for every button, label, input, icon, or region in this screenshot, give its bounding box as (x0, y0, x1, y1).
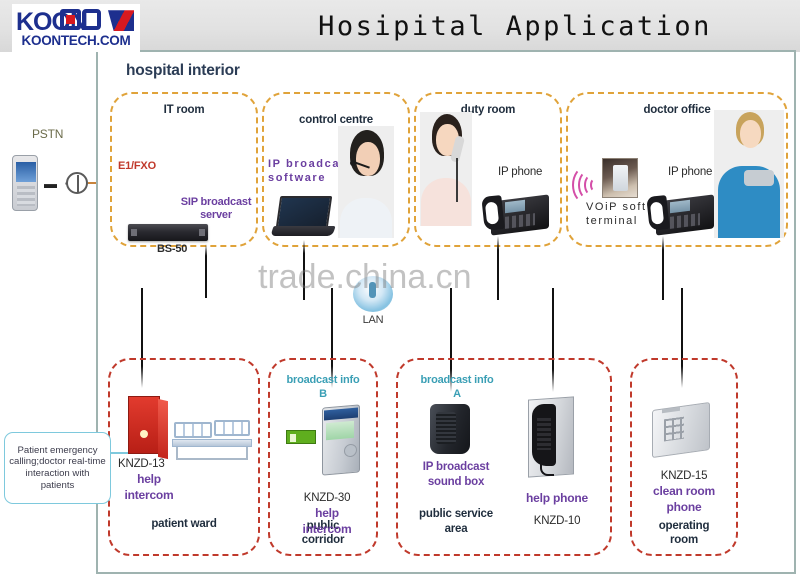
diagram-canvas: KOON KOONTECH.COM Hosipital Application … (0, 0, 800, 579)
zone-label-patient-ward: patient ward (110, 518, 258, 530)
broadcast-info-b-label: broadcast info B (272, 374, 374, 402)
pstn-node-icon (66, 172, 88, 194)
knzd-13-device-label: help intercom (110, 472, 188, 503)
lan-cloud-icon (353, 276, 393, 312)
zone-label-it-room: IT room (112, 104, 256, 116)
intercom-button (140, 430, 148, 438)
nurse-photo (420, 112, 472, 226)
operator-photo (338, 126, 394, 238)
operator-torso (340, 198, 392, 238)
link-doctor-down (662, 236, 664, 300)
nurse-torso (421, 178, 471, 226)
bed-mattress (172, 439, 252, 447)
ip-desk-phone-icon-doctor (648, 190, 714, 236)
desk-phone-handset (481, 195, 504, 231)
zone-label-control-centre: control centre (264, 114, 408, 126)
intercom-side (158, 399, 168, 459)
ip-broadcast-sound-box-icon (428, 404, 474, 456)
laptop-base (270, 226, 335, 236)
mobile-phone-icon (12, 155, 38, 211)
speaker-grill (436, 412, 456, 444)
doctor-ip-phone-label: IP phone (668, 166, 712, 179)
laptop-lid (276, 196, 332, 228)
doctor-photo (714, 110, 784, 238)
logo-dot-icon (66, 15, 75, 24)
wireless-waves-icon (572, 168, 602, 202)
logo-mark: KOON (16, 8, 136, 34)
koontech-logo: KOON KOONTECH.COM (12, 4, 140, 52)
knzd-30-kiosk-icon (320, 404, 364, 476)
kiosk-screen (326, 421, 354, 440)
voip-soft-terminal-photo (602, 158, 638, 198)
link-control-down (303, 240, 305, 300)
hospital-bed-icon (170, 418, 254, 462)
ip-desk-phone-icon-duty (483, 190, 549, 236)
bs-50-model-label: BS-50 (157, 243, 187, 256)
patient-emergency-callout: Patient emergency calling;doctor real-ti… (4, 432, 111, 504)
sip-broadcast-server-label: SIP broadcast server (178, 196, 254, 221)
lan-label: LAN (353, 314, 393, 327)
cleanphone-keypad (664, 417, 684, 442)
knzd-15-clean-room-phone-icon (652, 402, 714, 458)
knzd-15-model-label: KNZD-15 (638, 470, 730, 483)
callout-text: Patient emergency calling;doctor real-ti… (9, 445, 106, 492)
wallphone-handset (532, 404, 556, 466)
knzd-10-model-label: KNZD-10 (519, 515, 595, 528)
bed-rail-right (214, 420, 250, 436)
knzd-15-device-label: clean room phone (634, 484, 734, 515)
link-itroom-down (205, 244, 207, 298)
phone-cord (456, 158, 458, 202)
logo-ring-icon (82, 9, 101, 30)
mobile-screen (16, 162, 36, 182)
wallphone-cord (540, 462, 554, 476)
doctor-face (740, 120, 761, 148)
bed-frame (176, 447, 248, 460)
bed-rail-left (174, 422, 212, 438)
knzd-10-help-phone-icon (524, 398, 576, 478)
knzd-30-model-label: KNZD-30 (290, 492, 364, 505)
sound-box-label: IP broadcast sound box (412, 460, 500, 490)
clipboard-icon (744, 170, 774, 186)
duty-ip-phone-label: IP phone (498, 166, 542, 179)
knzd-13-intercom-icon (128, 396, 168, 458)
desk-phone-handset (646, 195, 669, 231)
callout-tail (110, 452, 128, 454)
voip-soft-terminal-label: VOiP soft terminal (586, 200, 652, 229)
page-title: Hosipital Application (255, 4, 775, 48)
frame-title: hospital interior (126, 62, 240, 80)
zone-label-operating-room: operating room (632, 520, 736, 548)
intercom-front (128, 396, 160, 454)
logo-swoosh-icon (108, 10, 134, 31)
help-phone-label: help phone (519, 492, 595, 506)
link-duty-down (497, 236, 499, 300)
e1fxo-label: E1/FXO (118, 160, 156, 173)
mobile-keypad (17, 186, 35, 206)
operator-face (356, 142, 380, 176)
pstn-label: PSTN (32, 128, 63, 142)
bs-50-server-icon (128, 224, 208, 241)
broadcast-info-a-label: broadcast info A (404, 374, 510, 402)
knzd-13-model-label: KNZD-13 (118, 458, 165, 471)
exit-sign-icon (286, 430, 316, 444)
laptop-icon (272, 196, 334, 242)
